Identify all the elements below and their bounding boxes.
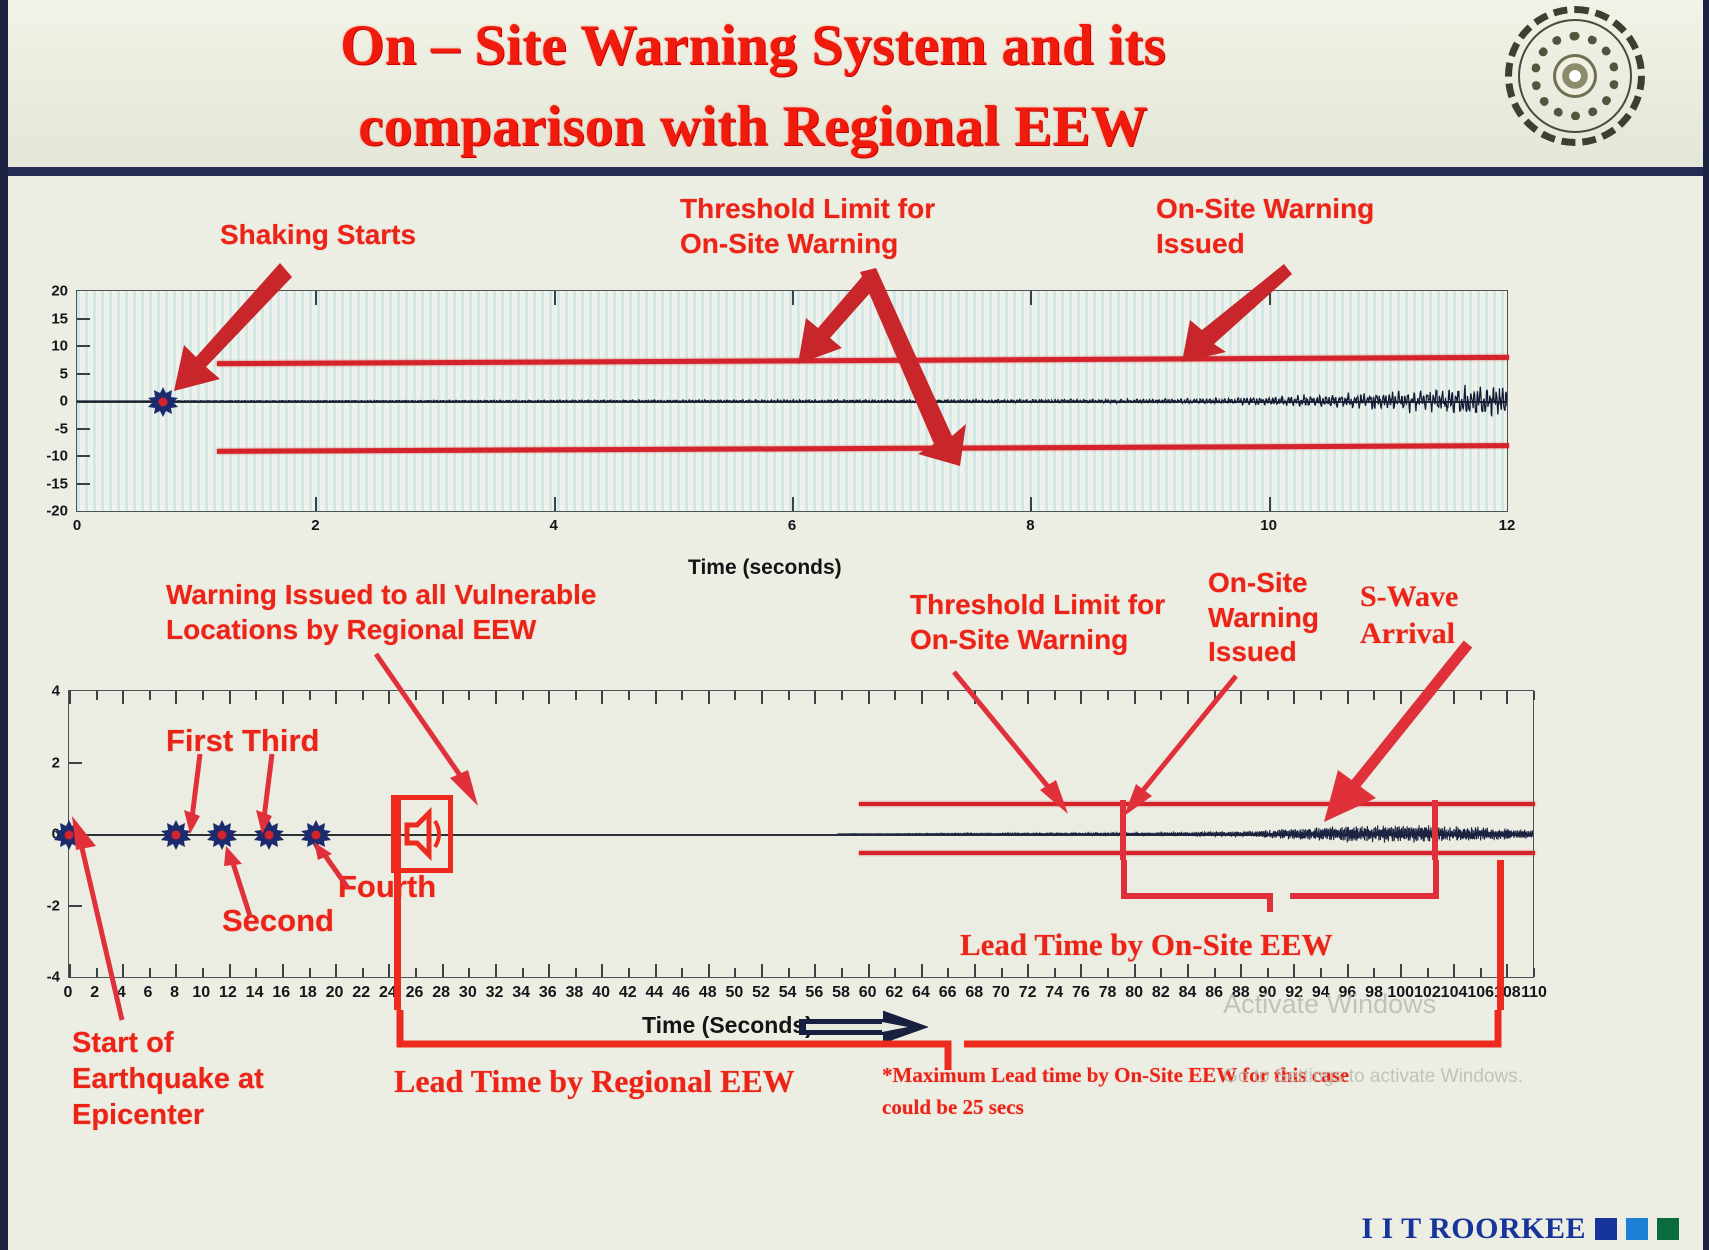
- bottom-chart-xtick-mark: [335, 964, 337, 977]
- bottom-chart-xtick-label: 54: [779, 984, 797, 1002]
- annotation-start-of-earthquake: Start of Earthquake at Epicenter: [72, 1026, 264, 1134]
- bottom-chart-xtick-label: 22: [352, 984, 370, 1002]
- bottom-chart-xtick-mark-top: [335, 691, 337, 704]
- bottom-chart-xtick-label: 50: [725, 984, 743, 1002]
- bottom-chart-xtick-mark: [788, 968, 790, 977]
- bottom-chart-xtick-mark-top: [522, 691, 524, 700]
- bottom-chart-xtick-mark: [548, 964, 550, 977]
- bottom-chart-xtick-label: 40: [592, 984, 610, 1002]
- bottom-chart-xtick-mark: [1107, 968, 1109, 977]
- annotation-bottom-warning-issued: On-Site Warning Issued: [1208, 566, 1319, 670]
- bottom-chart-xtick-mark-top: [175, 691, 177, 704]
- bottom-chart-xtick-mark: [921, 964, 923, 977]
- bottom-chart-xtick-label: 76: [1072, 984, 1090, 1002]
- bottom-chart-xtick-mark-top: [1267, 691, 1269, 700]
- bottom-chart-xtick-mark: [601, 964, 603, 977]
- bottom-chart-xtick-label: 28: [432, 984, 450, 1002]
- bottom-chart-xtick-label: 82: [1152, 984, 1170, 1002]
- bottom-chart-xtick-label: 42: [619, 984, 637, 1002]
- bottom-chart-xtick-mark-top: [708, 691, 710, 704]
- bottom-chart-xtick-label: 32: [486, 984, 504, 1002]
- watermark-line2: Go to Settings to activate Windows.: [1223, 1063, 1523, 1091]
- bottom-chart-xtick-mark: [761, 964, 763, 977]
- bottom-chart-xtick-mark: [175, 964, 177, 977]
- bottom-chart-xtick-mark: [1533, 968, 1535, 977]
- bottom-chart-xtick-mark-top: [229, 691, 231, 704]
- bottom-chart-xtick-mark: [1160, 968, 1162, 977]
- bottom-chart-xtick-mark-top: [655, 691, 657, 704]
- bottom-chart-xtick-mark: [1054, 968, 1056, 977]
- regional-warning-arrow-icon: [368, 650, 488, 810]
- bottom-chart-xtick-mark: [309, 968, 311, 977]
- onsite-bracket-right-guide: [1432, 800, 1438, 860]
- bottom-chart-xtick-mark: [229, 964, 231, 977]
- brand-square-2: [1626, 1218, 1648, 1240]
- bottom-chart-xtick-mark-top: [1293, 691, 1295, 704]
- bottom-chart-xtick-label: 48: [699, 984, 717, 1002]
- bottom-chart-xtick-label: 38: [566, 984, 584, 1002]
- bottom-chart-xtick-mark-top: [761, 691, 763, 704]
- bottom-chart-xtick-mark: [1001, 968, 1003, 977]
- page-title-line2: comparison with Regional EEW: [128, 87, 1378, 168]
- annotation-top-threshold-limit: Threshold Limit for On-Site Warning: [680, 192, 935, 261]
- lead-time-onsite-bracket: [1120, 856, 1440, 938]
- bottom-chart-xtick-mark-top: [788, 691, 790, 700]
- slide-photo: On – Site Warning System and its compari…: [0, 0, 1709, 1250]
- top-warning-issued-arrow-long-icon: [848, 268, 978, 468]
- bottom-chart-xtick-mark: [362, 968, 364, 977]
- bottom-chart-xtick-label: 20: [326, 984, 344, 1002]
- bottom-chart-xtick-label: 14: [246, 984, 264, 1002]
- slide-header: On – Site Warning System and its compari…: [8, 0, 1703, 176]
- bottom-chart-xtick-label: 86: [1205, 984, 1223, 1002]
- bottom-chart-xtick-label: 110: [1521, 984, 1547, 1002]
- bottom-chart-xtick-label: 74: [1045, 984, 1063, 1002]
- bottom-chart-xtick-mark-top: [202, 691, 204, 700]
- bottom-chart-xtick-mark-top: [122, 691, 124, 704]
- bottom-chart-xtick-mark: [522, 968, 524, 977]
- bottom-chart-xtick-mark-top: [282, 691, 284, 704]
- bottom-chart-xtick-mark-top: [868, 691, 870, 704]
- bottom-chart-xtick-mark: [894, 968, 896, 977]
- bottom-chart-xtick-mark: [415, 968, 417, 977]
- bottom-onsite-warning-arrow-icon: [1118, 672, 1248, 820]
- brand-square-3: [1657, 1218, 1679, 1240]
- third-station-arrow-icon: [246, 752, 286, 836]
- bottom-chart-xtick-mark-top: [894, 691, 896, 700]
- first-station-arrow-icon: [174, 752, 214, 836]
- bottom-chart-xtick-mark: [388, 964, 390, 977]
- annotation-shaking-starts: Shaking Starts: [220, 218, 416, 253]
- bottom-chart-xtick-mark-top: [1107, 691, 1109, 700]
- bottom-chart-xtick-label: 8: [170, 984, 179, 1002]
- bottom-chart-xtick-mark-top: [734, 691, 736, 700]
- onsite-bracket-left-guide: [1120, 800, 1126, 860]
- bottom-chart-xtick-mark-top: [309, 691, 311, 700]
- bottom-chart-xtick-mark-top: [69, 691, 71, 704]
- bottom-chart-xtick-label: 16: [272, 984, 290, 1002]
- bottom-chart-xtick-mark: [282, 964, 284, 977]
- bottom-chart-xtick-mark: [841, 968, 843, 977]
- watermark-line1: Activate Windows: [1223, 985, 1523, 1024]
- bottom-chart-xtick-mark-top: [628, 691, 630, 700]
- bottom-chart-xtick-label: 52: [752, 984, 770, 1002]
- annotation-bottom-threshold-limit: Threshold Limit for On-Site Warning: [910, 588, 1165, 657]
- bottom-chart-xtick-label: 12: [219, 984, 237, 1002]
- bottom-chart-xtick-label: 26: [406, 984, 424, 1002]
- bottom-chart-xtick-mark: [442, 964, 444, 977]
- bottom-chart-xtick-mark-top: [362, 691, 364, 700]
- annotation-warning-issued-regional: Warning Issued to all Vulnerable Locatio…: [166, 578, 596, 647]
- brand-square-1: [1595, 1218, 1617, 1240]
- page-title-line1: On – Site Warning System and its: [128, 6, 1378, 87]
- iit-roorkee-emblem-icon: [1505, 6, 1645, 146]
- bottom-chart-xtick-mark: [628, 968, 630, 977]
- bottom-chart-xtick-mark-top: [681, 691, 683, 700]
- bottom-chart-xtick-label: 80: [1125, 984, 1143, 1002]
- bottom-chart-xtick-mark-top: [548, 691, 550, 704]
- bottom-chart-xtick-mark-top: [841, 691, 843, 700]
- bottom-chart-xtick-label: 36: [539, 984, 557, 1002]
- bottom-chart-xtick-mark: [868, 964, 870, 977]
- top-chart-xaxis-label: Time (seconds): [688, 556, 842, 580]
- regional-bracket-left-guide: [394, 800, 401, 1010]
- bottom-chart-xtick-label: 56: [805, 984, 823, 1002]
- bottom-chart-xtick-label: 64: [912, 984, 930, 1002]
- bottom-chart-xtick-label: 66: [939, 984, 957, 1002]
- bottom-chart-xtick-mark: [495, 964, 497, 977]
- bottom-chart-xtick-label: 70: [992, 984, 1010, 1002]
- bottom-chart-xtick-mark-top: [255, 691, 257, 700]
- bottom-chart-xtick-mark-top: [814, 691, 816, 704]
- bottom-chart-xtick-label: 62: [885, 984, 903, 1002]
- top-onsite-warning-arrow-icon: [1176, 258, 1296, 368]
- bottom-chart-xtick-mark-top: [149, 691, 151, 700]
- bottom-chart-xtick-mark-top: [575, 691, 577, 700]
- bottom-chart-xtick-mark: [575, 968, 577, 977]
- bottom-chart-xtick-mark: [1214, 968, 1216, 977]
- brand-text: I I T ROORKEE: [1361, 1212, 1586, 1246]
- bottom-chart-xtick-label: 68: [965, 984, 983, 1002]
- s-wave-arrival-arrow-icon: [1304, 636, 1484, 826]
- page-title: On – Site Warning System and its compari…: [128, 6, 1378, 168]
- bottom-chart-xtick-label: 10: [192, 984, 210, 1002]
- bottom-chart-xtick-mark: [149, 968, 151, 977]
- bottom-chart-xtick-mark: [974, 964, 976, 977]
- bottom-chart-xtick-label: 46: [672, 984, 690, 1002]
- bottom-chart-xtick-mark-top: [1506, 691, 1508, 704]
- bottom-chart-xtick-label: 78: [1099, 984, 1117, 1002]
- bottom-chart-xtick-label: 6: [144, 984, 153, 1002]
- annotation-top-warning-issued: On-Site Warning Issued: [1156, 192, 1374, 261]
- iit-roorkee-brand: I I T ROORKEE: [1361, 1212, 1679, 1246]
- bottom-chart-xtick-mark: [681, 968, 683, 977]
- bottom-threshold-arrow-icon: [946, 668, 1076, 818]
- bottom-chart-xtick-mark-top: [96, 691, 98, 700]
- bottom-chart-xtick-mark: [1080, 964, 1082, 977]
- bottom-chart-xtick-mark: [814, 964, 816, 977]
- bottom-chart-xtick-label: 34: [512, 984, 530, 1002]
- bottom-chart-xtick-mark-top: [921, 691, 923, 704]
- windows-activation-watermark: Activate Windows Go to Settings to activ…: [1223, 946, 1523, 1130]
- bottom-chart-xtick-mark: [734, 968, 736, 977]
- second-station-arrow-icon: [210, 846, 264, 924]
- bottom-chart-xtick-label: 44: [645, 984, 663, 1002]
- bottom-chart-xtick-mark-top: [601, 691, 603, 704]
- bottom-chart-xtick-mark: [255, 968, 257, 977]
- bottom-chart-xtick-mark-top: [1080, 691, 1082, 704]
- bottom-chart-xtick-mark: [468, 968, 470, 977]
- start-of-earthquake-arrow-icon: [64, 812, 144, 1028]
- bottom-chart-xtick-mark-top: [1533, 691, 1535, 700]
- bottom-chart-xtick-label: 84: [1179, 984, 1197, 1002]
- bottom-chart-xtick-label: 58: [832, 984, 850, 1002]
- bottom-chart-xtick-mark-top: [495, 691, 497, 704]
- fourth-station-arrow-icon: [308, 842, 356, 894]
- bottom-chart-xtick-label: 60: [859, 984, 877, 1002]
- bottom-chart-xtick-mark: [1187, 964, 1189, 977]
- bottom-chart-xtick-mark: [947, 968, 949, 977]
- presentation-slide: On – Site Warning System and its compari…: [8, 0, 1703, 1250]
- bottom-chart-xtick-mark: [708, 964, 710, 977]
- bottom-chart-xtick-label: 18: [299, 984, 317, 1002]
- shaking-starts-arrow-icon: [168, 255, 298, 395]
- bottom-chart-xtick-mark: [1027, 964, 1029, 977]
- bottom-chart-xtick-label: 30: [459, 984, 477, 1002]
- bottom-chart-xtick-label: 72: [1019, 984, 1037, 1002]
- bottom-chart-xtick-mark: [1134, 964, 1136, 977]
- bottom-chart-xtick-mark: [202, 968, 204, 977]
- bottom-chart-xtick-mark: [655, 964, 657, 977]
